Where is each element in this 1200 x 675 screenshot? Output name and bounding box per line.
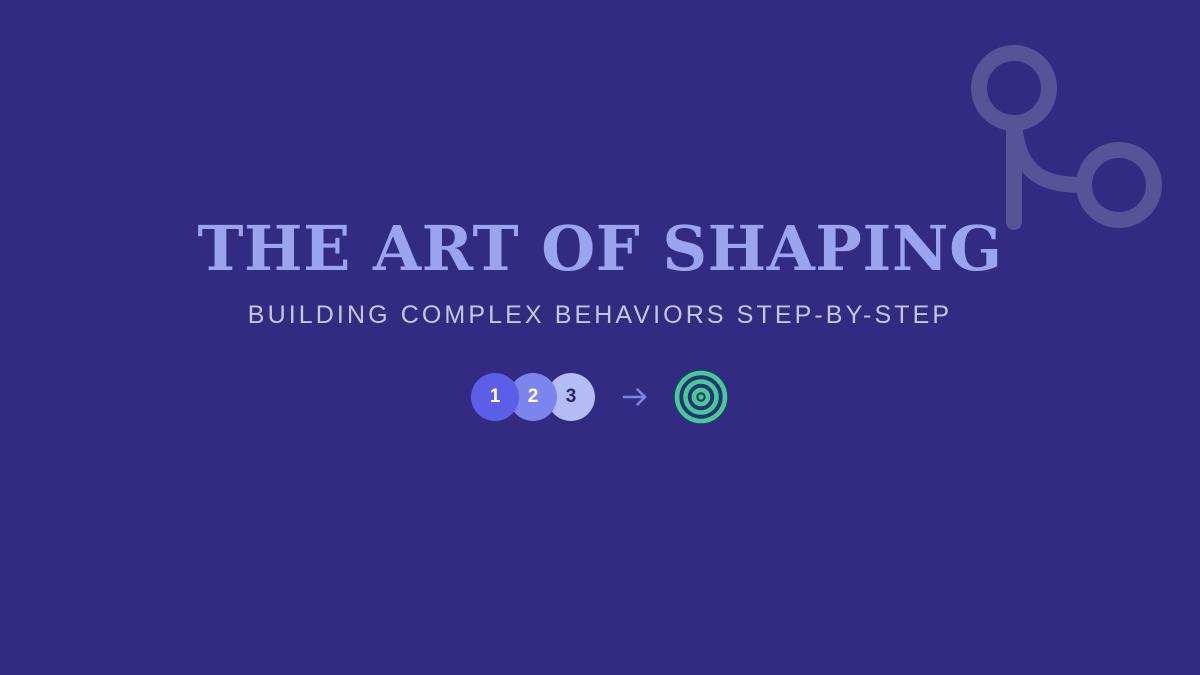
progression-row: 1 2 3	[471, 369, 729, 425]
arrow-right-icon	[619, 381, 651, 413]
step-circle-1[interactable]: 1	[471, 373, 519, 421]
title-slide: THE ART OF SHAPING BUILDING COMPLEX BEHA…	[0, 0, 1200, 675]
page-title: THE ART OF SHAPING	[197, 216, 1002, 282]
step-circle-group: 1 2 3	[471, 373, 595, 421]
step-circle-2-label: 2	[528, 387, 539, 406]
git-branch-icon	[968, 35, 1168, 240]
target-bullseye-icon	[673, 369, 729, 425]
step-circle-3-label: 3	[566, 387, 577, 406]
slide-content: THE ART OF SHAPING BUILDING COMPLEX BEHA…	[0, 216, 1200, 425]
slide-subtitle: BUILDING COMPLEX BEHAVIORS STEP-BY-STEP	[248, 301, 952, 330]
step-circle-1-label: 1	[490, 387, 501, 406]
